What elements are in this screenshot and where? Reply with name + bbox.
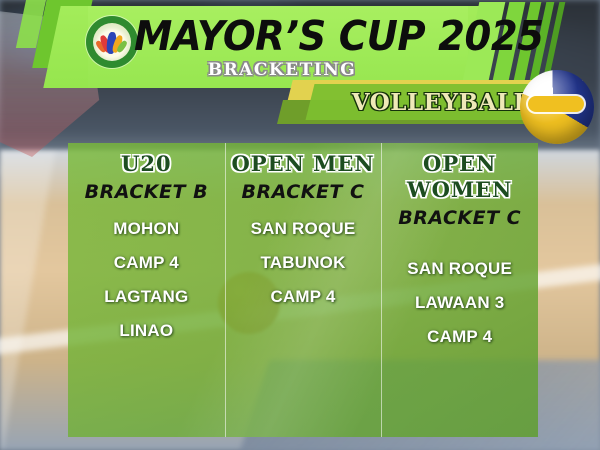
event-title: MAYOR’S CUP 2025	[134, 13, 444, 59]
bracket-category-label: OPEN MEN	[225, 151, 382, 177]
bracket-name-label: BRACKET B	[68, 180, 225, 204]
bracket-column-open-women: OPEN WOMEN BRACKET C SAN ROQUE LAWAAN 3 …	[381, 143, 538, 437]
bracket-name-label: BRACKET C	[225, 180, 382, 204]
bracket-category-label: U20	[68, 151, 225, 177]
team-item: CAMP 4	[68, 246, 225, 280]
team-item: CAMP 4	[225, 280, 382, 314]
team-item: SAN ROQUE	[381, 252, 538, 286]
team-item: SAN ROQUE	[225, 212, 382, 246]
team-item: TABUNOK	[225, 246, 382, 280]
team-list: MOHON CAMP 4 LAGTANG LINAO	[68, 212, 225, 348]
bracket-column-open-men: OPEN MEN BRACKET C SAN ROQUE TABUNOK CAM…	[225, 143, 382, 437]
bracket-category-label: OPEN WOMEN	[381, 151, 538, 203]
sport-tag: VOLLEYBALL	[280, 78, 600, 134]
bracket-panel: U20 BRACKET B MOHON CAMP 4 LAGTANG LINAO…	[68, 143, 538, 437]
bracket-name-label: BRACKET C	[381, 206, 538, 230]
team-list: SAN ROQUE LAWAAN 3 CAMP 4	[381, 252, 538, 354]
volleyball-seam	[528, 96, 584, 112]
team-item: CAMP 4	[381, 320, 538, 354]
bracket-column-u20: U20 BRACKET B MOHON CAMP 4 LAGTANG LINAO	[68, 143, 225, 437]
poster-canvas: MAYOR’S CUP 2025 BRACKETING VOLLEYBALL U…	[0, 0, 600, 450]
team-item: LAWAAN 3	[381, 286, 538, 320]
team-item: LAGTANG	[68, 280, 225, 314]
volleyball-icon	[520, 70, 594, 144]
team-list: SAN ROQUE TABUNOK CAMP 4	[225, 212, 382, 314]
mayors-cup-seal-icon	[86, 16, 138, 68]
team-item: MOHON	[68, 212, 225, 246]
team-item: LINAO	[68, 314, 225, 348]
